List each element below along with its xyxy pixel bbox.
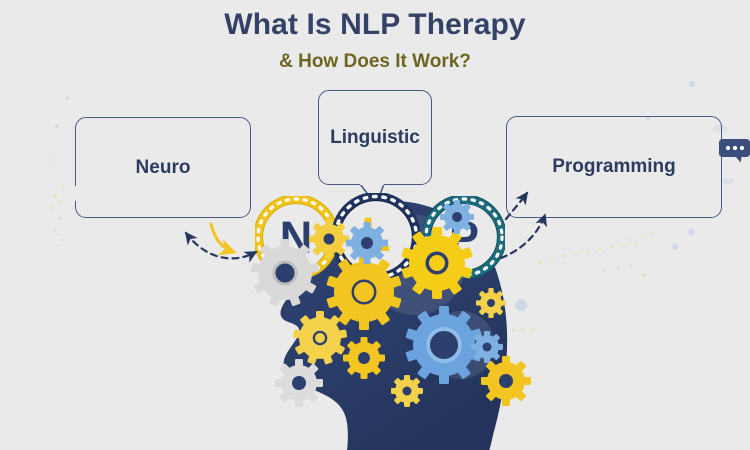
gear-yellow-lowerleft xyxy=(293,311,348,365)
callout-label-linguistic: Linguistic xyxy=(330,127,420,149)
page-title: What Is NLP Therapy xyxy=(0,8,750,42)
gear-gray-bottomleft xyxy=(275,359,323,407)
gear-blue-top xyxy=(346,222,388,264)
callout-label-neuro: Neuro xyxy=(136,157,191,179)
chat-dots-icon[interactable] xyxy=(718,139,750,163)
gear-yellow-small-center xyxy=(391,375,423,407)
gear-yellow-bottom xyxy=(343,337,385,379)
gear-yellow-topleft xyxy=(309,219,349,259)
gear-gray-large xyxy=(251,239,320,306)
gears-group-icon xyxy=(225,195,545,450)
gear-blue-upperright xyxy=(440,200,474,234)
gear-blue-midright xyxy=(471,331,503,363)
gear-gold-right-small xyxy=(476,288,506,318)
gear-gold-upper xyxy=(401,227,473,299)
infographic-canvas: What Is NLP Therapy & How Does It Work? … xyxy=(0,0,750,450)
callout-label-programming: Programming xyxy=(552,156,676,178)
callout-box-linguistic[interactable]: Linguistic xyxy=(318,90,432,185)
page-subtitle: & How Does It Work? xyxy=(0,51,750,73)
gear-yellow-bottomright xyxy=(481,356,531,406)
